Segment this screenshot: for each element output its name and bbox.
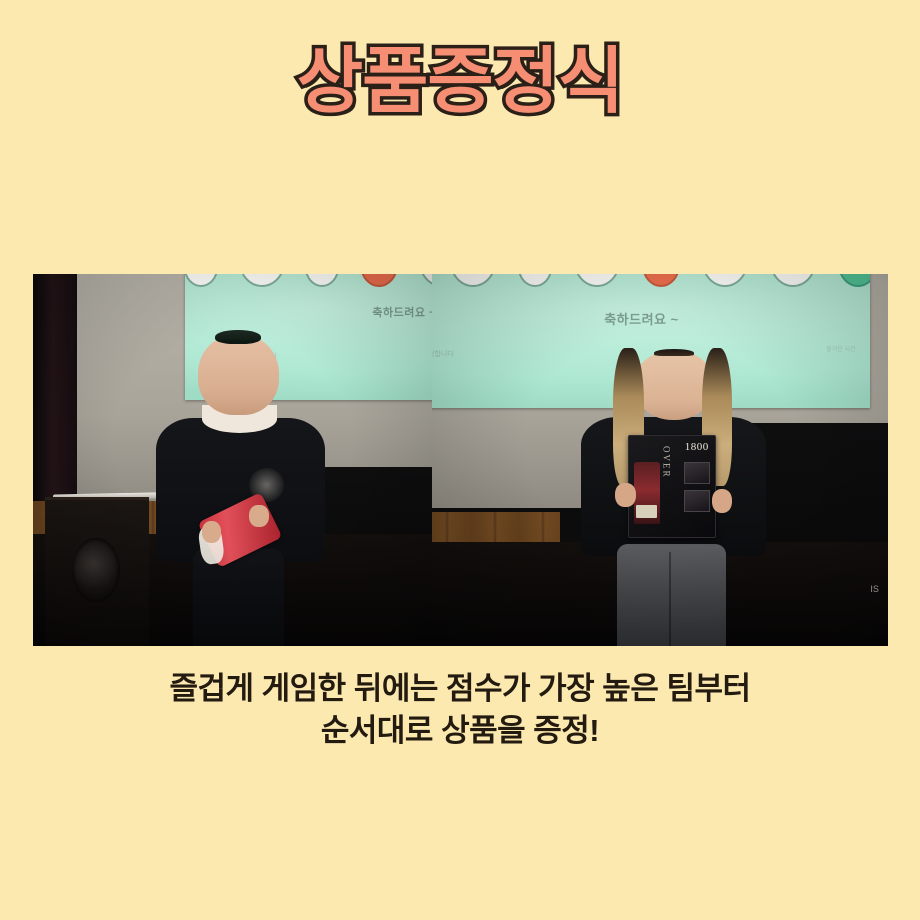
balloon-icon xyxy=(185,274,218,287)
balloon-icon xyxy=(419,274,432,287)
photo-left[interactable]: 축하드려요 ~ 상품을 증정합니다 xyxy=(33,274,432,646)
photo-strip: 축하드려요 ~ 상품을 증정합니다 xyxy=(33,274,888,646)
left-hand xyxy=(202,521,221,543)
slide-subtext-right: 즐거운 시간 xyxy=(826,344,855,353)
jeans xyxy=(617,544,725,646)
box-thumbnail xyxy=(684,490,710,512)
balloon-row xyxy=(185,274,432,287)
balloon-icon xyxy=(360,274,398,287)
page-title: 상품증정식 xyxy=(0,46,920,118)
slide-headline: 축하드려요 ~ xyxy=(604,309,679,328)
trousers xyxy=(193,549,284,646)
box-thumbnail xyxy=(684,462,710,484)
balloon-icon xyxy=(770,274,816,287)
caption-block: 즐겁게 게임한 뒤에는 점수가 가장 높은 팀부터 순서대로 상품을 증정! xyxy=(0,668,920,752)
slide-headline: 축하드려요 ~ xyxy=(372,304,432,320)
slide-subtext: 상품을 증정합니다 xyxy=(432,349,454,359)
poster-card: 상품증정식 축하드려요 ~ 상품을 증정합니다 xyxy=(0,0,920,920)
bottle-graphic xyxy=(634,462,660,524)
caption-line-1: 즐겁게 게임한 뒤에는 점수가 가장 높은 팀부터 xyxy=(0,668,920,710)
balloon-icon xyxy=(574,274,620,287)
balloon-icon xyxy=(518,274,552,287)
hair xyxy=(215,330,260,344)
gift-box-word: OVER xyxy=(661,446,671,479)
balloon-icon xyxy=(450,274,496,287)
right-hand xyxy=(249,505,268,527)
face xyxy=(198,334,279,415)
balloon-row xyxy=(432,274,870,287)
page-title-text: 상품증정식 xyxy=(297,46,623,118)
gift-box-brand: 1800 xyxy=(685,441,709,453)
caption-line-2: 순서대로 상품을 증정! xyxy=(0,710,920,752)
balloon-icon xyxy=(838,274,870,287)
gift-box: 1800 OVER xyxy=(628,435,716,537)
balloon-icon xyxy=(239,274,285,287)
photo-right[interactable]: 축하드려요 ~ 상품을 증정합니다 즐거운 시간 1800 OVER xyxy=(432,274,888,646)
balloon-icon xyxy=(642,274,680,287)
balloon-icon xyxy=(305,274,339,287)
person-right: 1800 OVER xyxy=(573,345,774,646)
corner-glyph: IS xyxy=(870,584,879,594)
hair-top xyxy=(654,349,694,357)
left-hand xyxy=(615,483,635,507)
right-hand xyxy=(712,489,732,513)
speaker-box xyxy=(45,497,149,646)
person-left xyxy=(153,334,329,646)
balloon-icon xyxy=(702,274,748,287)
